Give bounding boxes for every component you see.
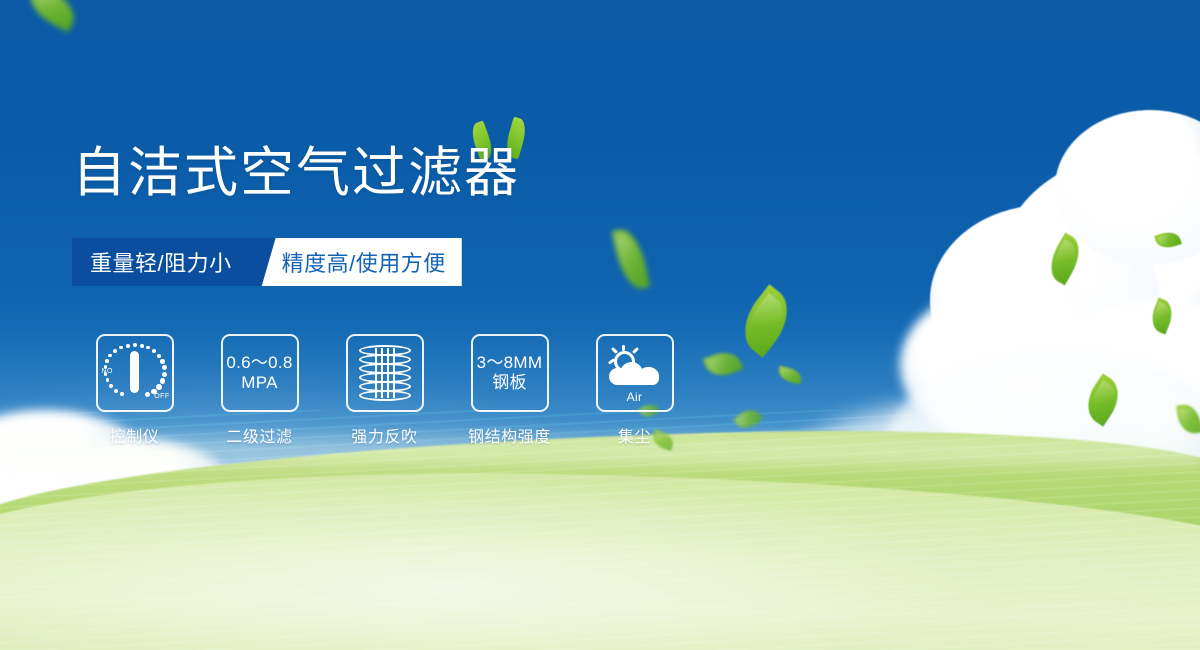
feature-label-blowback: 强力反吹 xyxy=(351,423,417,447)
dial-label-no: NO xyxy=(102,368,113,375)
feature-label-dust: 集尘 xyxy=(618,423,651,447)
subtitle-left-panel: 重量轻/阻力小 xyxy=(72,238,252,286)
feature-box-pressure: 0.6〜0.8 MPA xyxy=(221,334,299,412)
cloud-sun-air-icon: Air xyxy=(605,345,665,401)
feature-box-steel: 3〜8MM 钢板 xyxy=(471,334,549,412)
feature-list: NO OFF 控制仪 0.6〜0.8 MPA 二级过滤 xyxy=(72,334,697,447)
feature-box-dust: Air xyxy=(596,334,674,412)
subtitle-left-text: 重量轻/阻力小 xyxy=(90,246,232,278)
air-label: Air xyxy=(605,390,665,404)
feature-label-controller: 控制仪 xyxy=(110,423,160,447)
product-banner: 自洁式空气过滤器 重量轻/阻力小 精度高/使用方便 xyxy=(0,0,1200,650)
subtitle-bar: 重量轻/阻力小 精度高/使用方便 xyxy=(72,238,462,286)
cloud-icon xyxy=(609,362,661,385)
feature-item-pressure[interactable]: 0.6〜0.8 MPA 二级过滤 xyxy=(197,334,322,447)
coil-filter-icon xyxy=(359,345,411,401)
page-title: 自洁式空气过滤器 xyxy=(72,146,520,200)
dial-label-off: OFF xyxy=(154,393,169,400)
subtitle-right-text: 精度高/使用方便 xyxy=(282,246,446,278)
feature-label-steel: 钢结构强度 xyxy=(468,423,551,447)
feature-label-pressure: 二级过滤 xyxy=(226,423,292,447)
steel-plate-text-icon: 3〜8MM 钢板 xyxy=(477,353,543,393)
feature-item-blowback[interactable]: 强力反吹 xyxy=(322,334,447,447)
feature-item-controller[interactable]: NO OFF 控制仪 xyxy=(72,334,197,447)
sky-background xyxy=(0,0,1200,650)
subtitle-divider-slash xyxy=(252,238,276,286)
pressure-text-icon: 0.6〜0.8 MPA xyxy=(226,353,292,393)
dial-needle xyxy=(130,351,139,393)
feature-box-controller: NO OFF xyxy=(96,334,174,412)
subtitle-right-panel: 精度高/使用方便 xyxy=(252,238,462,286)
feature-item-steel[interactable]: 3〜8MM 钢板 钢结构强度 xyxy=(447,334,572,447)
feature-item-dust[interactable]: Air 集尘 xyxy=(572,334,697,447)
feature-box-blowback xyxy=(346,334,424,412)
subtitle-divider xyxy=(252,238,276,286)
dial-gauge-icon: NO OFF xyxy=(104,342,166,404)
